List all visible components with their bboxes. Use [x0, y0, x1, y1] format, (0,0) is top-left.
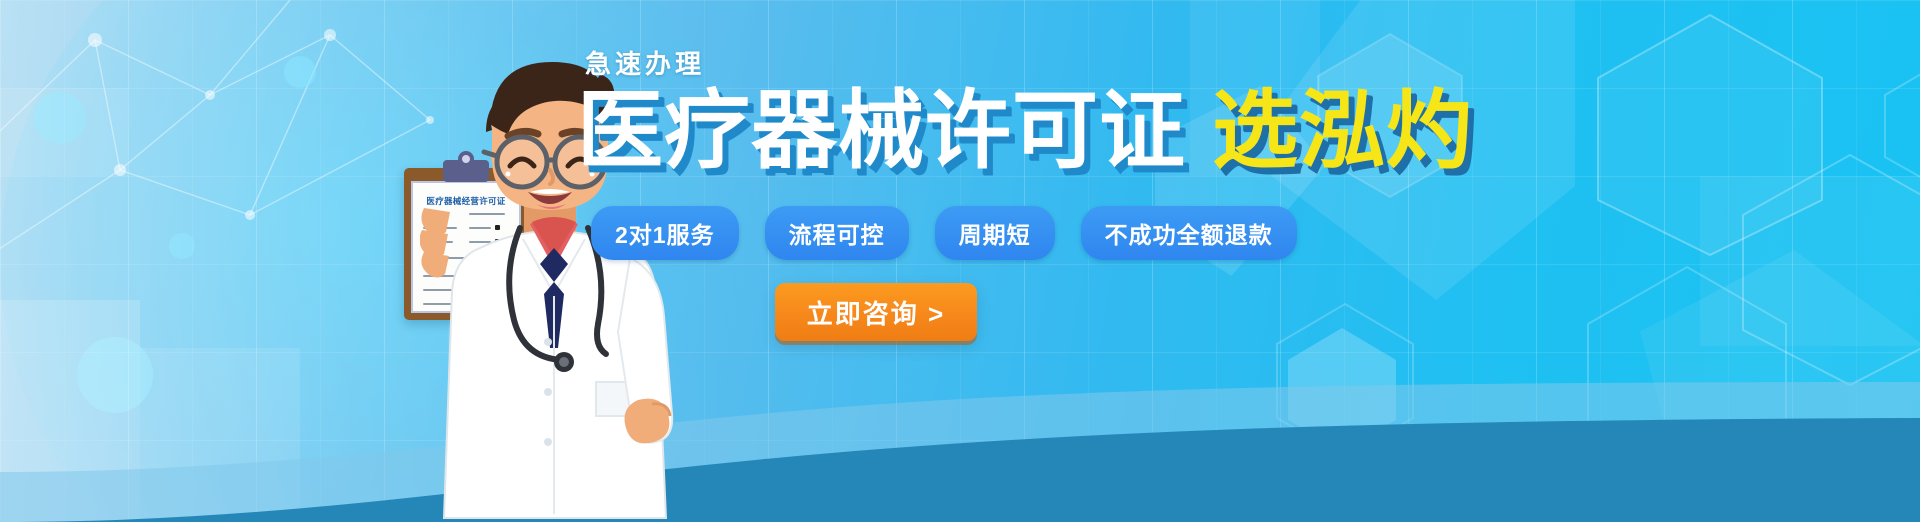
- feature-pill-3[interactable]: 不成功全额退款: [1081, 206, 1297, 260]
- feature-pill-list: 2对1服务 流程可控 周期短 不成功全额退款: [591, 206, 1297, 260]
- headline-accent: 选泓灼: [1212, 88, 1473, 174]
- feature-pill-0[interactable]: 2对1服务: [591, 206, 739, 260]
- feature-pill-1[interactable]: 流程可控: [765, 206, 909, 260]
- consult-now-button[interactable]: 立即咨询 >: [775, 283, 977, 341]
- banner-copy: 急速办理 医疗器械许可证 选泓灼 2对1服务 流程可控 周期短 不成功全额退款 …: [585, 0, 1885, 522]
- headline: 医疗器械许可证 选泓灼: [577, 88, 1473, 174]
- doctor-left-hand: [420, 208, 450, 278]
- feature-pill-2[interactable]: 周期短: [935, 206, 1055, 260]
- promo-banner: 医疗器械经营许可证: [0, 0, 1920, 522]
- headline-main: 医疗器械许可证: [577, 88, 1186, 174]
- eyebrow-text: 急速办理: [585, 44, 705, 81]
